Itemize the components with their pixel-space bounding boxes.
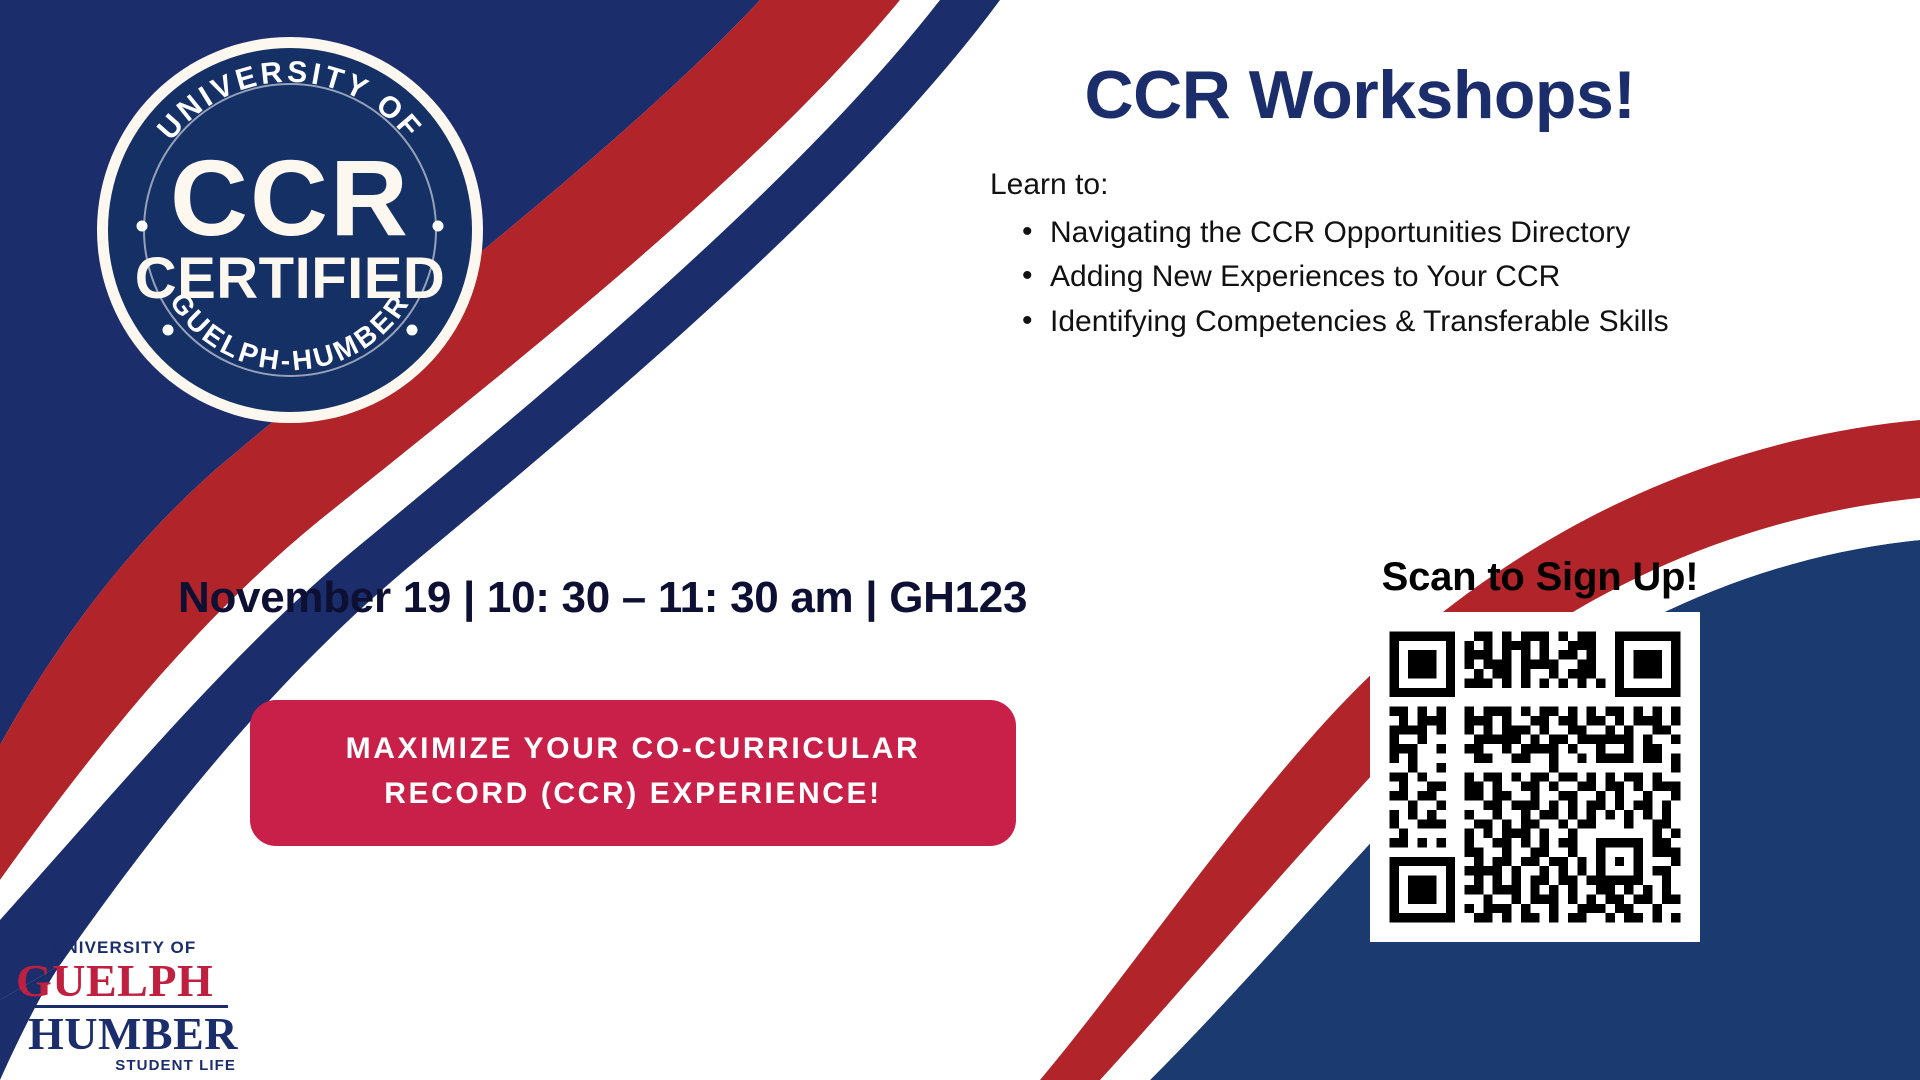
logo-guelph-text: GUELPH [16, 958, 244, 1003]
list-item: Navigating the CCR Opportunities Directo… [1022, 212, 1742, 255]
seal-dot-bottom-left [163, 325, 174, 336]
ccr-certified-seal: UNIVERSITY OF GUELPH-HUMBER CCR CERTIFIE… [90, 30, 490, 430]
logo-humber-text: HUMBER [14, 1011, 238, 1056]
guelph-humber-student-life-logo: UNIVERSITY OF GUELPH HUMBER STUDENT LIFE [14, 938, 244, 1074]
qr-signup-block: Scan to Sign Up! [1370, 555, 1710, 942]
seal-dot-bottom-right [407, 325, 418, 336]
seal-dot-right [433, 221, 444, 232]
poster-canvas: UNIVERSITY OF GUELPH-HUMBER CCR CERTIFIE… [0, 0, 1920, 1080]
scan-to-sign-up-label: Scan to Sign Up! [1370, 555, 1710, 600]
event-datetime-location: November 19 | 10: 30 – 11: 30 am | GH123 [178, 573, 1027, 623]
qr-code[interactable] [1370, 612, 1700, 942]
seal-dot-left [137, 221, 148, 232]
list-item: Adding New Experiences to Your CCR [1022, 256, 1742, 299]
learn-to-label: Learn to: [990, 165, 1800, 206]
seal-center-ccr: CCR [170, 137, 410, 258]
seal-center-certified: CERTIFIED [135, 246, 446, 311]
workshop-topics-list: Navigating the CCR Opportunities Directo… [1022, 212, 1800, 344]
page-title: CCR Workshops! [960, 60, 1800, 131]
content-column: CCR Workshops! Learn to: Navigating the … [960, 60, 1800, 346]
maximize-ccr-experience-button[interactable]: MAXIMIZE YOUR CO-CURRICULAR RECORD (CCR)… [250, 700, 1016, 846]
list-item: Identifying Competencies & Transferable … [1022, 301, 1742, 344]
logo-student-life-text: STUDENT LIFE [14, 1057, 236, 1074]
